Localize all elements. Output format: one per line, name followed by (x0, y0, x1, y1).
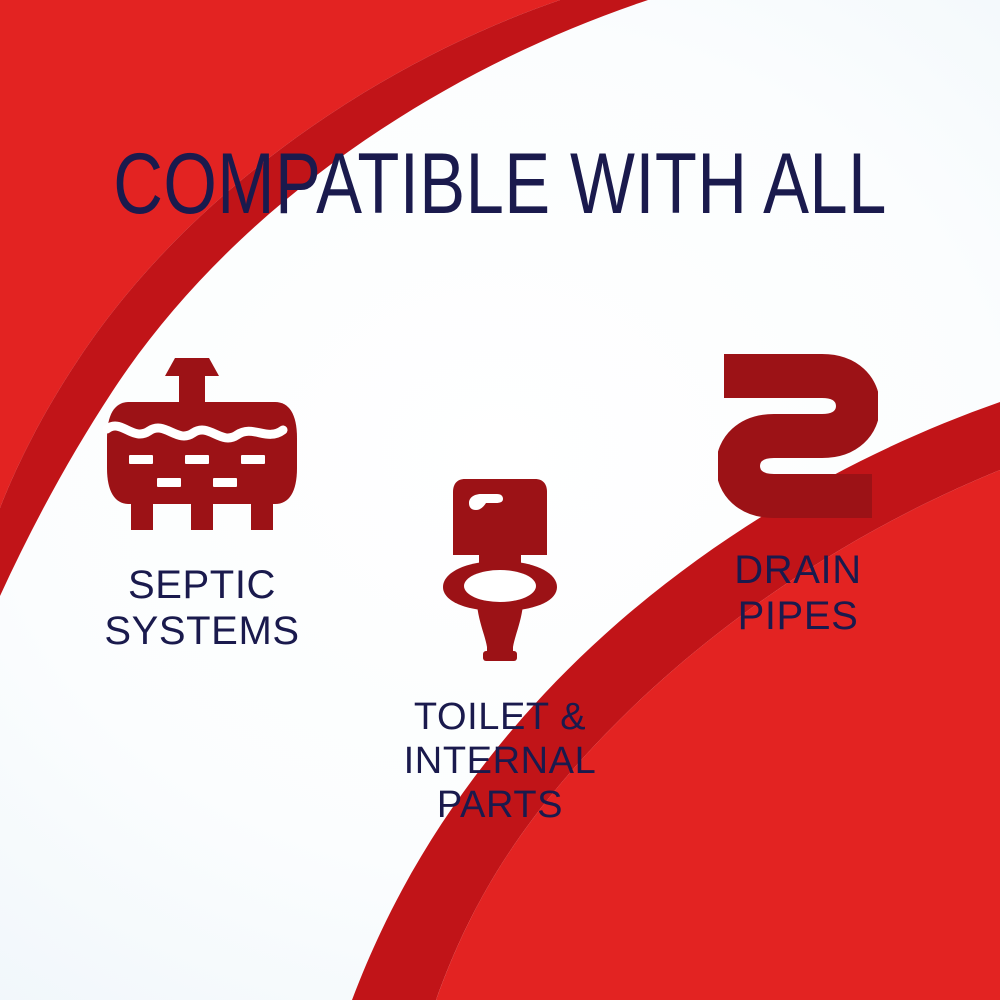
label-line: SYSTEMS (104, 608, 299, 654)
septic-tank-icon (97, 350, 307, 540)
list-item-drain: DRAIN PIPES (648, 350, 948, 639)
page-title: COMPATIBLE WITH ALL (100, 138, 900, 230)
list-item-toilet: TOILET & INTERNAL PARTS (350, 350, 650, 827)
label-line: PARTS (404, 783, 597, 827)
label-line: DRAIN (734, 547, 861, 593)
label-line: PIPES (734, 593, 861, 639)
list-item-septic: SEPTIC SYSTEMS (52, 350, 352, 654)
drain-pipe-icon (718, 350, 878, 525)
label-line: INTERNAL (404, 739, 597, 783)
septic-icon-wrap (97, 350, 307, 540)
toilet-icon (439, 475, 561, 665)
toilet-bowl-opening (464, 570, 536, 602)
label-line: TOILET & (404, 695, 597, 739)
toilet-icon-wrap (439, 475, 561, 665)
drain-icon-wrap (718, 350, 878, 525)
septic-water-level-wave (107, 426, 283, 438)
list-item-label-toilet: TOILET & INTERNAL PARTS (404, 695, 597, 827)
compatibility-list: SEPTIC SYSTEMS (0, 350, 1000, 870)
list-item-label-drain: DRAIN PIPES (734, 547, 861, 639)
promo-graphic: COMPATIBLE WITH ALL (0, 0, 1000, 1000)
list-item-label-septic: SEPTIC SYSTEMS (104, 562, 299, 654)
drain-pipe-path (724, 376, 872, 496)
label-line: SEPTIC (104, 562, 299, 608)
